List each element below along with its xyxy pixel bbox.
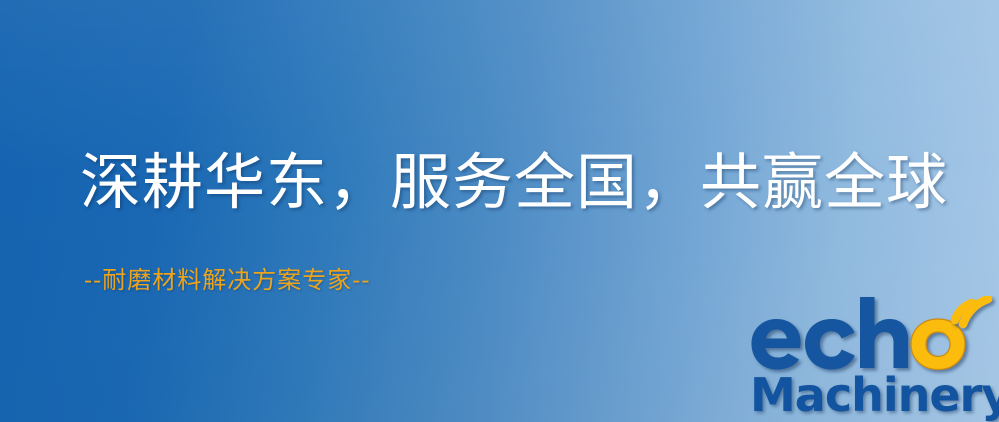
logo-letter-e [742, 319, 801, 370]
logo-letter-o [911, 319, 965, 370]
page-subtitle: --耐磨材料解决方案专家-- [84, 268, 370, 292]
logo-signal-waves-icon [955, 299, 988, 324]
logo-tagline: Machinery [750, 372, 999, 418]
logo-letter-c [805, 319, 855, 370]
logo-letter-h [860, 297, 908, 368]
logo-tagline-group: Machinery ® [750, 372, 999, 418]
page-title: 深耕华东，服务全国，共赢全球 [80, 152, 948, 213]
logo-wordmark-echo [742, 296, 999, 378]
company-logo: Machinery ® [742, 296, 999, 422]
hero-banner: 深耕华东，服务全国，共赢全球 --耐磨材料解决方案专家-- [0, 0, 999, 422]
